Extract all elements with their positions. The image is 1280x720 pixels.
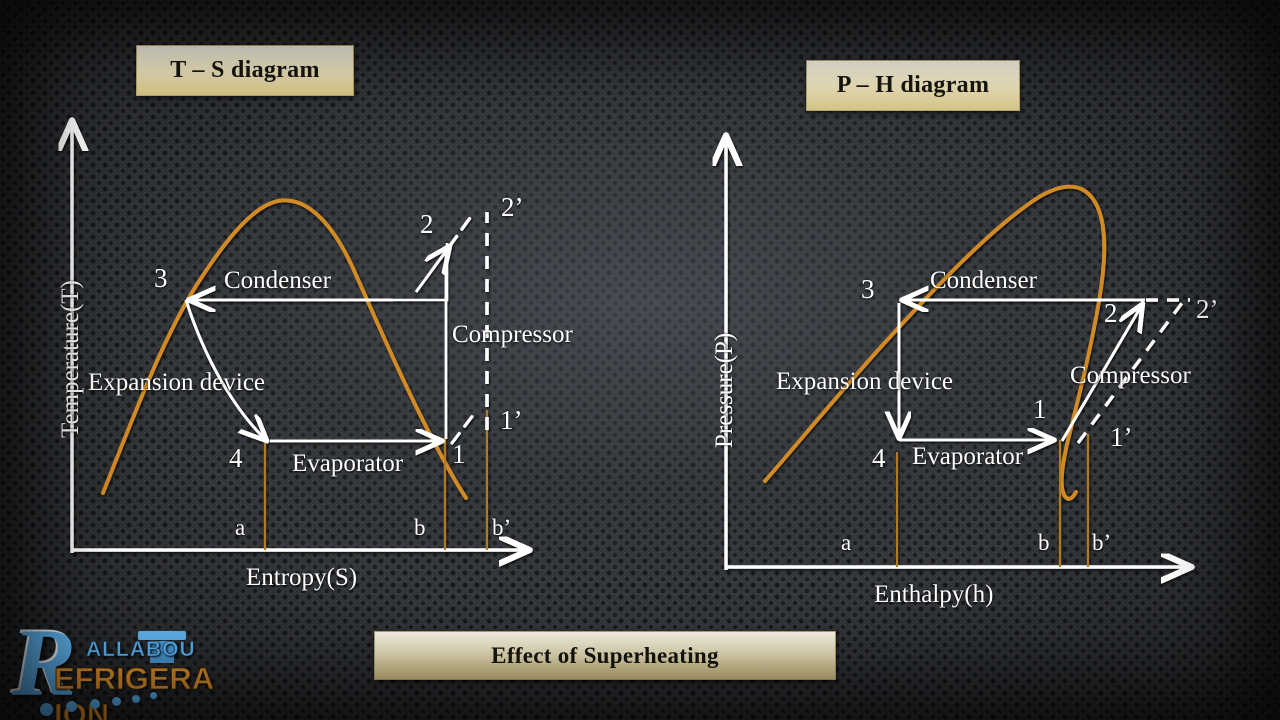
footer-title-plate: Effect of Superheating [374, 631, 836, 680]
diagrams-drawing-layer [0, 0, 1280, 720]
ph-point-3: 3 [861, 276, 875, 303]
ph-tick-a: a [841, 531, 851, 554]
ts-point-3: 3 [154, 265, 168, 292]
ph-point-4: 4 [872, 445, 886, 472]
ts-diagram-title: T – S diagram [170, 57, 319, 84]
brand-logo: R ALLABOU EFRIGERA ION [8, 613, 270, 716]
ph-point-2: 2 [1104, 300, 1118, 327]
ts-tick-a: a [235, 516, 245, 539]
ts-point-2-prime: 2’ [501, 194, 524, 221]
ph-point-1: 1 [1033, 396, 1047, 423]
ph-point-2-prime: 2’ [1196, 296, 1219, 323]
ts-point-1: 1 [452, 441, 466, 468]
ts-compressor-label: Compressor [452, 322, 573, 347]
footer-title: Effect of Superheating [491, 643, 719, 669]
ph-x-axis-label: Enthalpy(h) [874, 582, 993, 607]
ts-x-axis-label: Entropy(S) [246, 565, 357, 590]
ts-y-axis-label: Temperature(T) [58, 280, 83, 438]
ph-compressor-label: Compressor [1070, 363, 1191, 388]
ts-evaporator-label: Evaporator [292, 451, 403, 476]
ph-diagram-title-plate: P – H diagram [806, 60, 1020, 111]
ts-point-2: 2 [420, 211, 434, 238]
logo-dots-icon [36, 691, 196, 715]
ph-diagram-group [726, 137, 1190, 570]
ts-connector-2-to-condenser [393, 243, 447, 300]
ts-saturation-dome [103, 200, 466, 498]
logo-top-word: ALLABOU [86, 638, 196, 662]
ph-evaporator-label: Evaporator [912, 444, 1023, 469]
ph-expansion-device-label: Expansion device [776, 369, 953, 394]
ph-condenser-label: Condenser [930, 268, 1037, 293]
ts-diagram-title-plate: T – S diagram [136, 45, 354, 96]
ph-y-axis-label: Pressure(P) [712, 333, 737, 448]
ts-condenser-label: Condenser [224, 268, 331, 293]
slide-canvas: T – S diagram P – H diagram Effect of Su… [0, 0, 1280, 720]
ts-tick-b-prime: b’ [492, 516, 511, 539]
ts-superheat-segment-top [449, 218, 470, 247]
ph-axes [726, 137, 1190, 570]
ph-tick-b: b [1038, 531, 1050, 554]
ts-point-1-prime: 1’ [500, 407, 523, 434]
ph-point-1-prime: 1’ [1110, 424, 1133, 451]
ts-tick-b: b [414, 516, 426, 539]
ts-expansion-device-label: Expansion device [88, 370, 265, 395]
ts-compressor-arrow [416, 247, 449, 292]
ph-tick-b-prime: b’ [1092, 531, 1111, 554]
ts-point-4: 4 [229, 445, 243, 472]
ph-diagram-title: P – H diagram [837, 72, 990, 99]
